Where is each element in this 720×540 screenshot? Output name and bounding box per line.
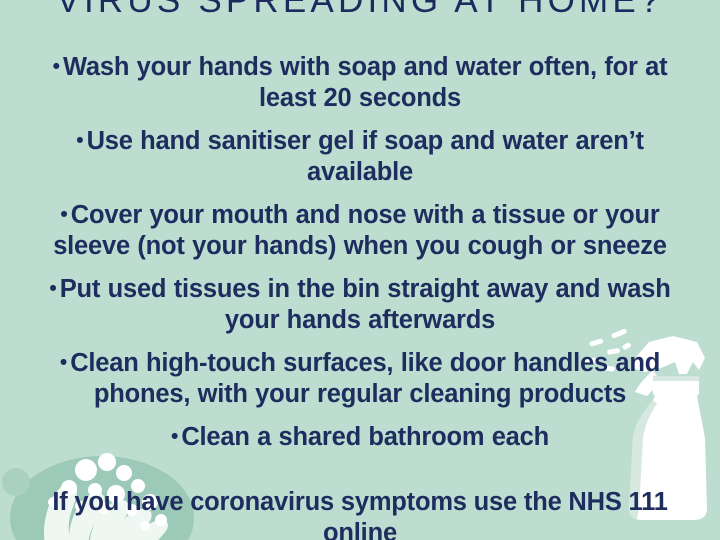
tip-text: Clean high-touch surfaces, like door han… (70, 349, 660, 408)
bullet-icon: • (49, 277, 59, 300)
bullet-icon: • (53, 55, 63, 78)
list-item: •Put used tissues in the bin straight aw… (36, 274, 684, 335)
poster-canvas: VIRUS SPREADING AT HOME? •Wash your hand… (0, 0, 720, 540)
bullet-icon: • (60, 351, 70, 374)
bullet-icon: • (60, 203, 70, 226)
nhs-111-footer-note: If you have coronavirus symptoms use the… (36, 487, 684, 540)
list-item: •Use hand sanitiser gel if soap and wate… (36, 126, 684, 187)
tip-text: Clean a shared bathroom each (181, 423, 549, 451)
list-item: •Clean a shared bathroom each (36, 422, 684, 453)
tip-text: Cover your mouth and nose with a tissue … (53, 201, 667, 260)
tip-text: Put used tissues in the bin straight awa… (60, 275, 671, 334)
list-item: •Cover your mouth and nose with a tissue… (36, 200, 684, 261)
bullet-icon: • (171, 425, 181, 448)
page-title: VIRUS SPREADING AT HOME? (0, 0, 720, 24)
tip-text: Wash your hands with soap and water ofte… (63, 53, 667, 112)
prevention-tips-list: •Wash your hands with soap and water oft… (36, 52, 684, 466)
bullet-icon: • (76, 129, 86, 152)
list-item: •Wash your hands with soap and water oft… (36, 52, 684, 113)
list-item: •Clean high-touch surfaces, like door ha… (36, 348, 684, 409)
poster-content: VIRUS SPREADING AT HOME? •Wash your hand… (0, 0, 720, 540)
tip-text: Use hand sanitiser gel if soap and water… (87, 127, 644, 186)
